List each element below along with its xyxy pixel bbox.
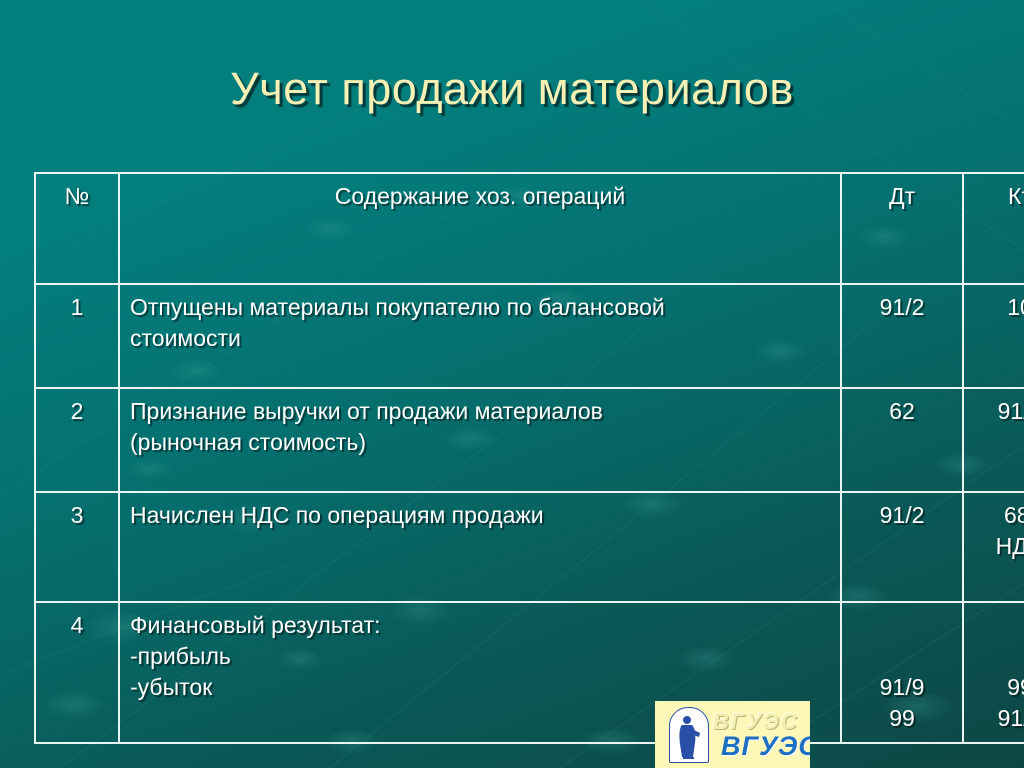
row-description: Начислен НДС по операциям продажи: [119, 492, 841, 602]
description-line: -убыток: [130, 672, 830, 703]
credit-value: 99: [974, 672, 1024, 703]
description-line: -прибыль: [130, 641, 830, 672]
row-credit-account: 99 91/9: [963, 602, 1024, 743]
description-line: стоимости: [130, 323, 830, 354]
row-debit-account: 62: [841, 388, 963, 492]
debit-value: 91/9: [852, 672, 952, 703]
column-header-debit: Дт: [841, 173, 963, 284]
table-header-row: № Содержание хоз. операций Дт Кт: [35, 173, 1024, 284]
row-credit-account: 10: [963, 284, 1024, 388]
description-line: (рыночная стоимость): [130, 427, 830, 458]
row-number: 4: [35, 602, 119, 743]
description-line: Отпущены материалы покупателю по балансо…: [130, 292, 830, 323]
credit-value: НДС: [974, 531, 1024, 562]
accounting-entries-table-wrapper: № Содержание хоз. операций Дт Кт 1 Отпущ…: [34, 172, 990, 688]
debit-value: 91/2: [852, 500, 952, 531]
description-line: Признание выручки от продажи материалов: [130, 396, 830, 427]
row-number: 1: [35, 284, 119, 388]
table-row: 2 Признание выручки от продажи материало…: [35, 388, 1024, 492]
row-number: 2: [35, 388, 119, 492]
logo-emblem-icon: [669, 707, 709, 763]
credit-value: 91/9: [974, 703, 1024, 734]
column-header-description: Содержание хоз. операций: [119, 173, 841, 284]
debit-value: 62: [852, 396, 952, 427]
logo-text-blue: ВГУЭС: [721, 731, 810, 762]
row-debit-account: 91/2: [841, 284, 963, 388]
row-number: 3: [35, 492, 119, 602]
credit-value: 68/: [974, 500, 1024, 531]
credit-value: 91/1: [974, 396, 1024, 427]
row-debit-account: 91/9 99: [841, 602, 963, 743]
description-line: Финансовый результат:: [130, 610, 830, 641]
table-row: 1 Отпущены материалы покупателю по балан…: [35, 284, 1024, 388]
row-credit-account: 91/1: [963, 388, 1024, 492]
scholar-figure-icon: [676, 713, 702, 759]
vgues-logo: ВГУЭС ВГУЭС: [655, 701, 810, 768]
page-title: Учет продажи материалов: [0, 62, 1024, 116]
row-description: Отпущены материалы покупателю по балансо…: [119, 284, 841, 388]
column-header-number: №: [35, 173, 119, 284]
accounting-entries-table: № Содержание хоз. операций Дт Кт 1 Отпущ…: [34, 172, 1024, 744]
debit-value: 91/2: [852, 292, 952, 323]
description-line: Начислен НДС по операциям продажи: [130, 500, 830, 531]
column-header-credit: Кт: [963, 173, 1024, 284]
row-debit-account: 91/2: [841, 492, 963, 602]
credit-value: 10: [974, 292, 1024, 323]
debit-value: 99: [852, 703, 952, 734]
table-row: 4 Финансовый результат: -прибыль -убыток…: [35, 602, 1024, 743]
slide-canvas: Учет продажи материалов № Содержание хоз…: [0, 0, 1024, 768]
table-row: 3 Начислен НДС по операциям продажи 91/2…: [35, 492, 1024, 602]
row-description: Признание выручки от продажи материалов …: [119, 388, 841, 492]
row-credit-account: 68/ НДС: [963, 492, 1024, 602]
